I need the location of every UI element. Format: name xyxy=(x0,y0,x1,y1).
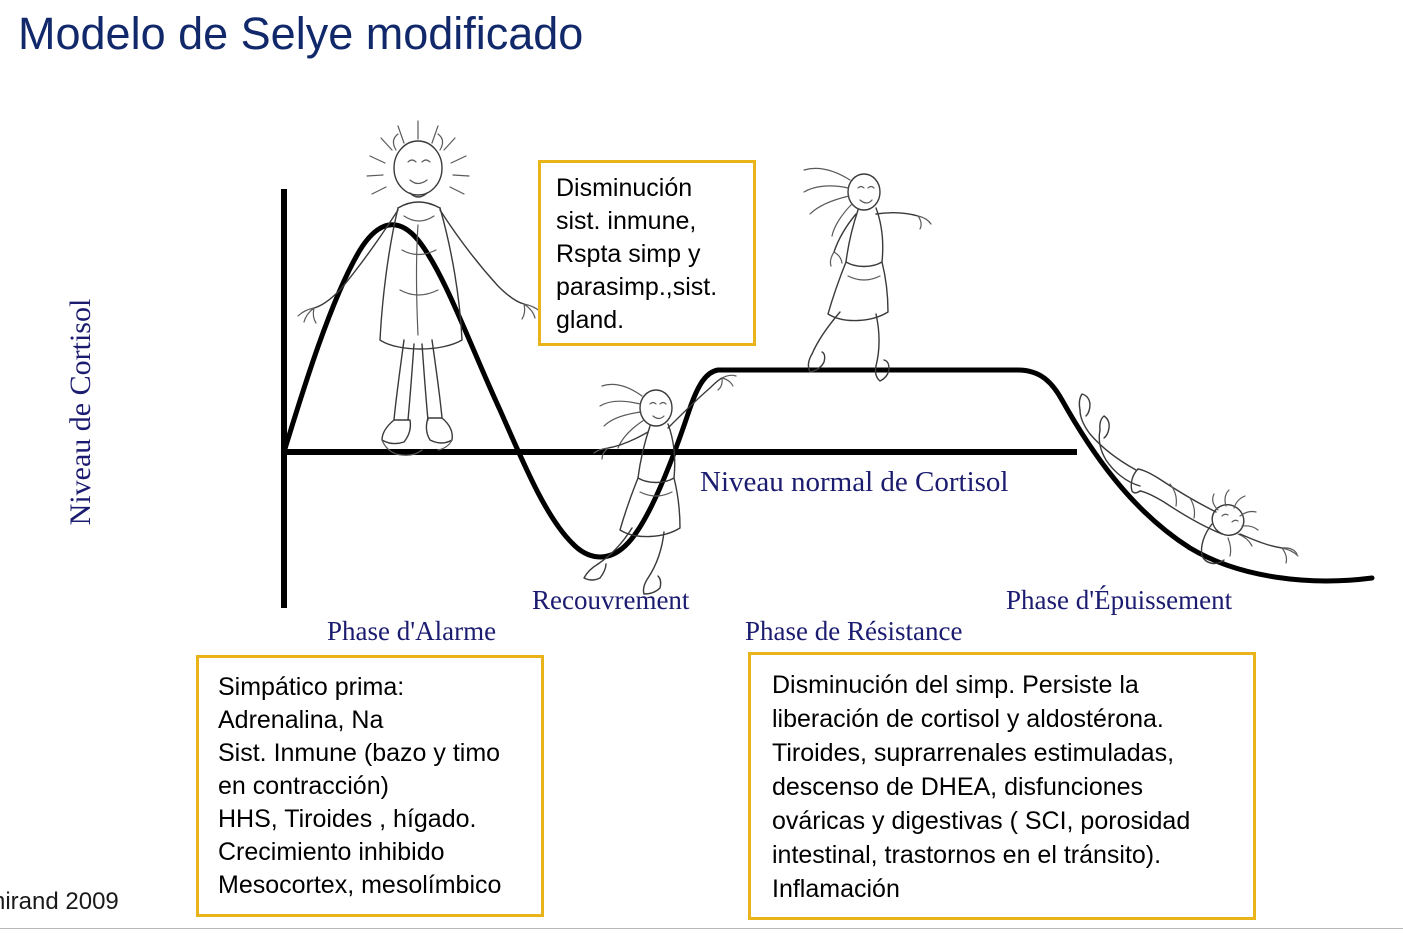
figure-woman-resistance xyxy=(804,168,931,381)
phase-label-resistance: Phase de Résistance xyxy=(745,616,962,647)
phase-label-epuissement: Phase d'Épuissement xyxy=(1006,585,1232,616)
source-credit: amirand 2009 xyxy=(0,888,119,916)
baseline-label: Niveau normal de Cortisol xyxy=(700,466,1008,499)
callout-box-resistance: Disminución del simp. Persiste la libera… xyxy=(748,652,1256,920)
figure-woman-exhaustion xyxy=(1079,394,1298,563)
y-axis-label: Niveau de Cortisol xyxy=(64,252,98,572)
callout-box-alarm: Simpático prima: Adrenalina, Na Sist. In… xyxy=(196,655,544,917)
phase-label-alarme: Phase d'Alarme xyxy=(327,616,496,647)
page-title: Modelo de Selye modificado xyxy=(18,8,583,60)
cortisol-curve xyxy=(284,225,1372,581)
figure-woman-alarm xyxy=(298,121,541,455)
phase-label-recouvrement: Recouvrement xyxy=(532,585,689,616)
callout-box-peak: Disminución sist. inmune, Rspta simp y p… xyxy=(538,160,756,346)
bottom-divider xyxy=(0,928,1403,929)
slide-canvas: Fases del Síndrome General de Adaptación… xyxy=(0,0,1403,935)
